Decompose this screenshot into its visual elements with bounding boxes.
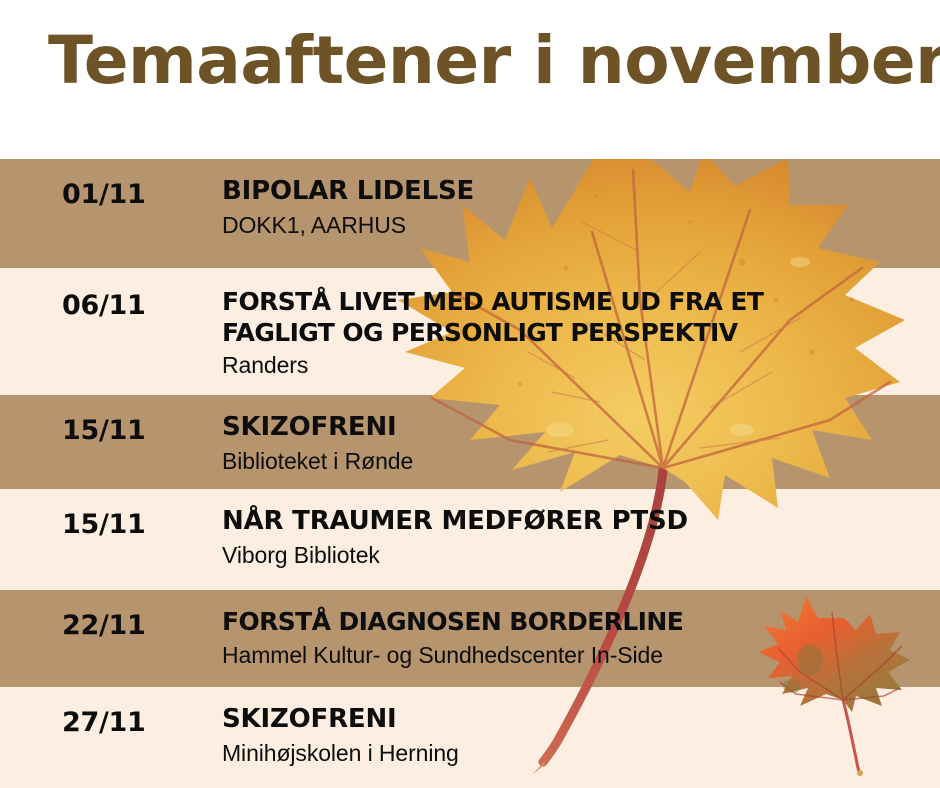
event-title: FORSTÅ LIVET MED AUTISME UD FRA ET FAGLI… bbox=[222, 287, 930, 348]
page-title: Temaaftener i november bbox=[48, 26, 940, 95]
event-title: SKIZOFRENI bbox=[222, 704, 930, 736]
event-venue: DOKK1, AARHUS bbox=[222, 211, 930, 240]
event-row[interactable]: 06/11FORSTÅ LIVET MED AUTISME UD FRA ET … bbox=[0, 268, 940, 395]
event-venue: Randers bbox=[222, 351, 930, 380]
event-body: SKIZOFRENIMinihøjskolen i Herning bbox=[222, 704, 930, 767]
event-body: FORSTÅ DIAGNOSEN BORDERLINEHammel Kultur… bbox=[222, 607, 930, 669]
poster-header: Temaaftener i november bbox=[0, 0, 940, 159]
event-body: FORSTÅ LIVET MED AUTISME UD FRA ET FAGLI… bbox=[222, 287, 930, 380]
event-date: 22/11 bbox=[62, 610, 146, 641]
event-date: 06/11 bbox=[62, 290, 146, 321]
event-row[interactable]: 15/11SKIZOFRENIBiblioteket i Rønde bbox=[0, 395, 940, 489]
event-venue: Hammel Kultur- og Sundhedscenter In-Side bbox=[222, 641, 930, 670]
event-row[interactable]: 01/11BIPOLAR LIDELSEDOKK1, AARHUS bbox=[0, 159, 940, 268]
event-row[interactable]: 22/11FORSTÅ DIAGNOSEN BORDERLINEHammel K… bbox=[0, 590, 940, 687]
event-title: SKIZOFRENI bbox=[222, 412, 930, 444]
event-row[interactable]: 15/11NÅR TRAUMER MEDFØRER PTSDViborg Bib… bbox=[0, 489, 940, 590]
event-body: NÅR TRAUMER MEDFØRER PTSDViborg Bibliote… bbox=[222, 506, 930, 569]
event-body: SKIZOFRENIBiblioteket i Rønde bbox=[222, 412, 930, 475]
event-date: 27/11 bbox=[62, 707, 146, 738]
event-title: BIPOLAR LIDELSE bbox=[222, 176, 930, 208]
poster-canvas: Temaaftener i november 01/11BIPOLAR LIDE… bbox=[0, 0, 940, 788]
event-venue: Minihøjskolen i Herning bbox=[222, 739, 930, 768]
event-title: FORSTÅ DIAGNOSEN BORDERLINE bbox=[222, 607, 930, 638]
event-body: BIPOLAR LIDELSEDOKK1, AARHUS bbox=[222, 176, 930, 239]
event-venue: Viborg Bibliotek bbox=[222, 541, 930, 570]
event-date: 15/11 bbox=[62, 509, 146, 540]
event-date: 15/11 bbox=[62, 415, 146, 446]
event-title: NÅR TRAUMER MEDFØRER PTSD bbox=[222, 506, 930, 538]
event-venue: Biblioteket i Rønde bbox=[222, 447, 930, 476]
event-date: 01/11 bbox=[62, 179, 146, 210]
event-row[interactable]: 27/11SKIZOFRENIMinihøjskolen i Herning bbox=[0, 687, 940, 788]
